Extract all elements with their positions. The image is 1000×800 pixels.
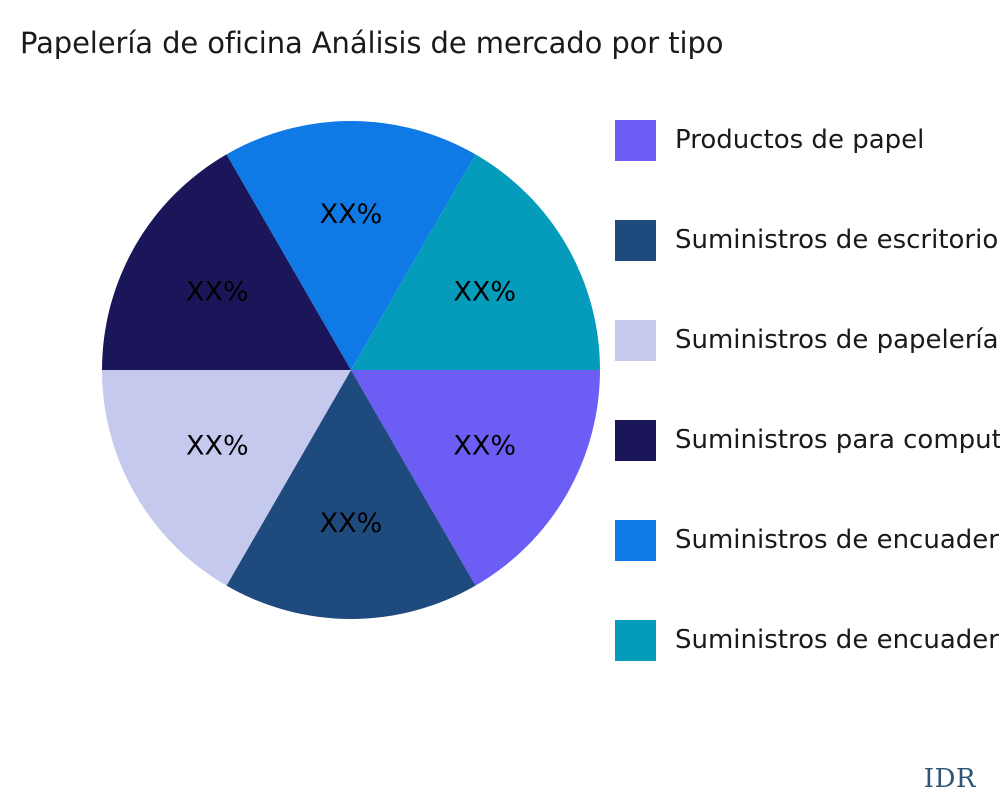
legend-item-label: Suministros de papelería [675, 327, 999, 353]
pie-chart: XX%XX%XX%XX%XX%XX% [0, 0, 620, 700]
watermark-idr: IDR [924, 764, 976, 794]
legend-item[interactable]: Suministros para computadoras [615, 410, 1000, 470]
legend-item-label: Suministros de escritorio [675, 227, 998, 253]
legend-color-swatch [615, 620, 656, 661]
pie-slice-label: XX% [186, 276, 249, 307]
legend-color-swatch [615, 520, 656, 561]
pie-slice-label: XX% [320, 508, 383, 539]
legend-item-label: Suministros de encuadernación [675, 627, 1000, 653]
pie-slice-label: XX% [320, 199, 383, 230]
legend-item[interactable]: Suministros de escritorio [615, 210, 1000, 270]
legend-item[interactable]: Productos de papel [615, 110, 1000, 170]
pie-slice-label: XX% [453, 276, 516, 307]
legend-item-label: Suministros de encuadernación [675, 527, 1000, 553]
legend-item-label: Productos de papel [675, 127, 924, 153]
legend-item[interactable]: Suministros de encuadernación [615, 610, 1000, 670]
pie-slice-group [102, 121, 600, 619]
legend-color-swatch [615, 120, 656, 161]
legend-item[interactable]: Suministros de papelería [615, 310, 1000, 370]
legend-item[interactable]: Suministros de encuadernación [615, 510, 1000, 570]
legend-item-label: Suministros para computadoras [675, 427, 1000, 453]
legend-color-swatch [615, 420, 656, 461]
pie-chart-svg: XX%XX%XX%XX%XX%XX% [0, 0, 620, 700]
pie-slice-label: XX% [186, 431, 249, 462]
legend-color-swatch [615, 320, 656, 361]
pie-slice-label: XX% [453, 431, 516, 462]
legend-color-swatch [615, 220, 656, 261]
legend: Productos de papelSuministros de escrito… [615, 110, 1000, 680]
